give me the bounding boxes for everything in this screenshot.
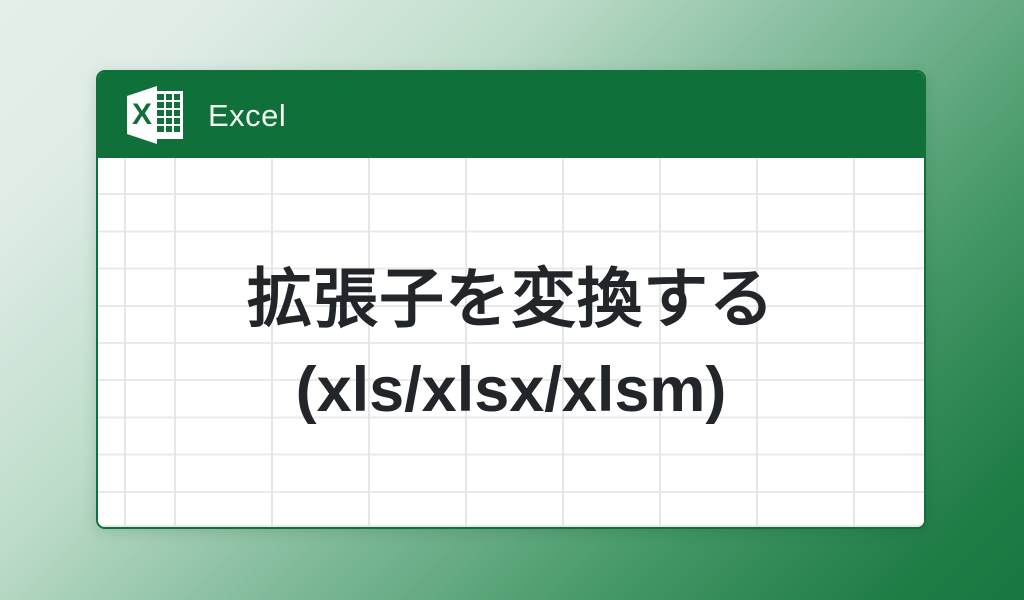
spreadsheet-grid: 拡張子を変換する (xls/xlsx/xlsm) xyxy=(98,158,924,527)
slide-background: X Excel 拡張子を変換する (xls/xlsx/xlsm) xyxy=(0,0,1024,600)
headline-block: 拡張子を変換する (xls/xlsx/xlsm) xyxy=(98,158,924,527)
excel-logo-icon: X xyxy=(124,86,186,144)
excel-title-bar: X Excel xyxy=(98,72,924,158)
headline-title: 拡張子を変換する xyxy=(247,266,775,334)
excel-app-name: Excel xyxy=(208,100,286,131)
headline-subtitle: (xls/xlsx/xlsm) xyxy=(296,357,727,423)
svg-text:X: X xyxy=(132,98,152,131)
excel-window-card: X Excel 拡張子を変換する (xls/xlsx/xlsm) xyxy=(96,70,926,529)
